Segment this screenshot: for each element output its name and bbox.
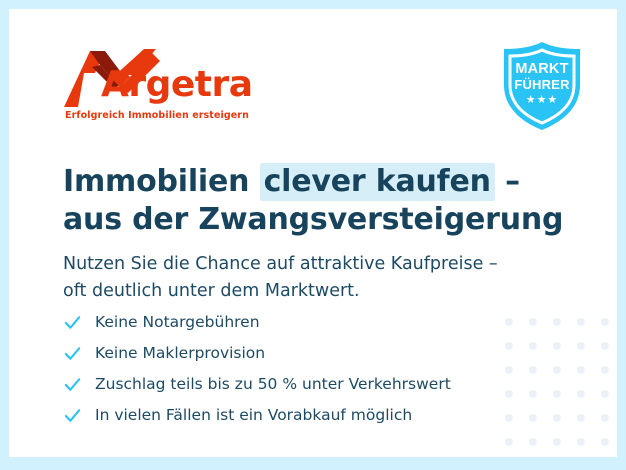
list-item-label: Zuschlag teils bis zu 50 % unter Verkehr… [95,377,451,393]
banner-card: Argetra Erfolgreich Immobilien ersteiger… [9,9,617,457]
decorative-dot [601,438,609,446]
logo-wordmark: Argetra [101,67,253,103]
decorative-dot [529,438,537,446]
decorative-dot [505,438,513,446]
decorative-dot [529,366,537,374]
list-item: In vielen Fällen ist ein Vorabkauf mögli… [63,400,451,431]
check-icon [63,406,82,425]
decorative-dot [529,390,537,398]
page-title: Immobilien clever kaufen – aus der Zwang… [63,163,563,240]
decorative-dot [601,366,609,374]
decorative-dot [577,366,585,374]
market-leader-badge: MARKT FÜHRER ★★★ [496,40,588,132]
decorative-dot-grid [497,310,617,454]
list-item-label: Keine Maklerprovision [95,346,265,362]
decorative-dot [601,342,609,350]
decorative-dot [505,390,513,398]
check-icon [63,344,82,363]
logo-tagline: Erfolgreich Immobilien ersteigern [65,110,249,121]
list-item-label: In vielen Fällen ist ein Vorabkauf mögli… [95,408,412,424]
headline-line-1: Immobilien clever kaufen – [63,163,520,201]
decorative-dot [529,318,537,326]
decorative-dot [601,318,609,326]
decorative-dot [529,342,537,350]
decorative-dot [529,414,537,422]
decorative-dot [505,366,513,374]
decorative-dot [577,438,585,446]
decorative-dot [505,342,513,350]
decorative-dot [577,390,585,398]
subtitle-line-1: Nutzen Sie die Chance auf attraktive Kau… [63,254,498,274]
list-item: Keine Notargebühren [63,307,451,338]
headline-text-before: Immobilien [63,164,260,199]
headline-highlight: clever kaufen [260,163,495,201]
decorative-dot [553,438,561,446]
subtitle: Nutzen Sie die Chance auf attraktive Kau… [63,251,498,305]
decorative-dot [553,366,561,374]
list-item-label: Keine Notargebühren [95,315,260,331]
list-item: Keine Maklerprovision [63,338,451,369]
check-icon [63,313,82,332]
decorative-dot [601,390,609,398]
list-item: Zuschlag teils bis zu 50 % unter Verkehr… [63,369,451,400]
benefits-list: Keine Notargebühren Keine Maklerprovisio… [63,307,451,431]
decorative-dot [577,414,585,422]
decorative-dot [553,414,561,422]
decorative-dot [553,390,561,398]
shield-icon [496,40,588,132]
decorative-dot [577,342,585,350]
decorative-dot [505,414,513,422]
decorative-dot [601,414,609,422]
decorative-dot [505,318,513,326]
check-icon [63,375,82,394]
headline-text-after: – [495,164,520,199]
argetra-logo[interactable]: Argetra Erfolgreich Immobilien ersteiger… [64,49,244,121]
decorative-dot [577,318,585,326]
subtitle-line-2: oft deutlich unter dem Marktwert. [63,281,360,301]
decorative-dot [553,342,561,350]
headline-line-2: aus der Zwangsversteigerung [63,202,563,237]
decorative-dot [553,318,561,326]
banner-canvas: Argetra Erfolgreich Immobilien ersteiger… [0,0,626,470]
